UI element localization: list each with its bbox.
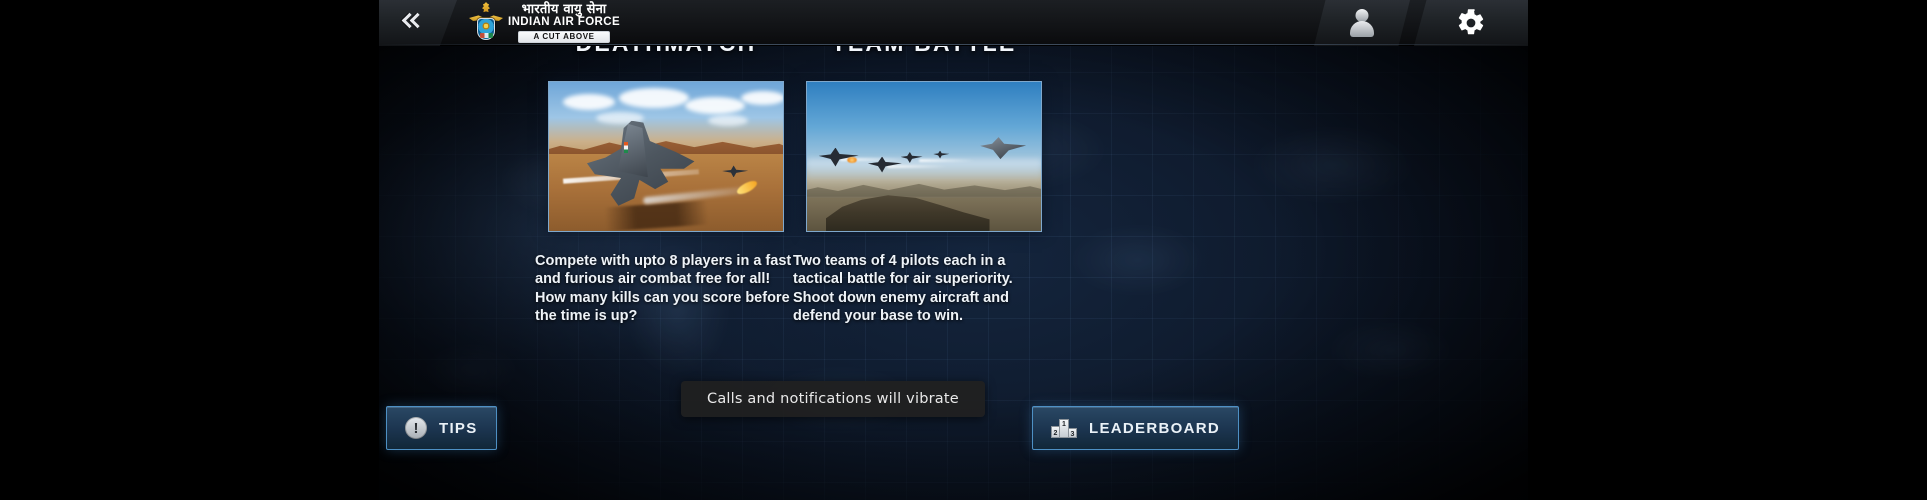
top-navigation-bar: भारतीय वायु सेना INDIAN AIR FORCE A CUT … [379, 0, 1528, 46]
iaf-crest-icon [469, 3, 503, 43]
settings-button[interactable] [1414, 0, 1528, 46]
person-icon [1349, 9, 1375, 37]
deathmatch-artwork [549, 82, 783, 231]
podium-icon: 2 1 3 [1051, 418, 1077, 438]
leaderboard-button[interactable]: 2 1 3 LEADERBOARD [1032, 406, 1239, 450]
profile-button[interactable] [1314, 0, 1410, 46]
tips-button[interactable]: ! TIPS [386, 406, 497, 450]
mode-thumbnail-team-battle[interactable] [806, 81, 1042, 232]
brand-text-block: भारतीय वायु सेना INDIAN AIR FORCE A CUT … [508, 3, 620, 43]
back-button[interactable] [379, 0, 457, 46]
mode-card-deathmatch[interactable]: DEATHMATCH [521, 30, 811, 326]
brand-tagline: A CUT ABOVE [518, 31, 609, 43]
app-screen: DEATHMATCH [0, 0, 1927, 500]
tips-button-label: TIPS [439, 420, 478, 437]
mode-description-team-battle: Two teams of 4 pilots each in a tactical… [793, 252, 1055, 326]
double-chevron-left-icon [404, 12, 426, 34]
brand-english-name: INDIAN AIR FORCE [508, 17, 620, 29]
mode-thumbnail-deathmatch[interactable] [548, 81, 784, 232]
podium-third-place: 3 [1068, 428, 1077, 438]
brand-hindi-name: भारतीय वायु सेना [522, 3, 607, 16]
exclamation-circle-icon: ! [405, 417, 427, 439]
mode-description-deathmatch: Compete with upto 8 players in a fast an… [535, 252, 797, 326]
leaderboard-button-label: LEADERBOARD [1089, 420, 1220, 437]
toast-notification: Calls and notifications will vibrate [681, 381, 985, 417]
gear-icon [1456, 8, 1486, 38]
game-viewport: DEATHMATCH [379, 0, 1528, 500]
mode-card-team-battle[interactable]: TEAM BATTLE Two tea [779, 30, 1069, 326]
iaf-brand-logo: भारतीय वायु सेना INDIAN AIR FORCE A CUT … [459, 0, 620, 46]
team-battle-artwork [807, 82, 1041, 231]
